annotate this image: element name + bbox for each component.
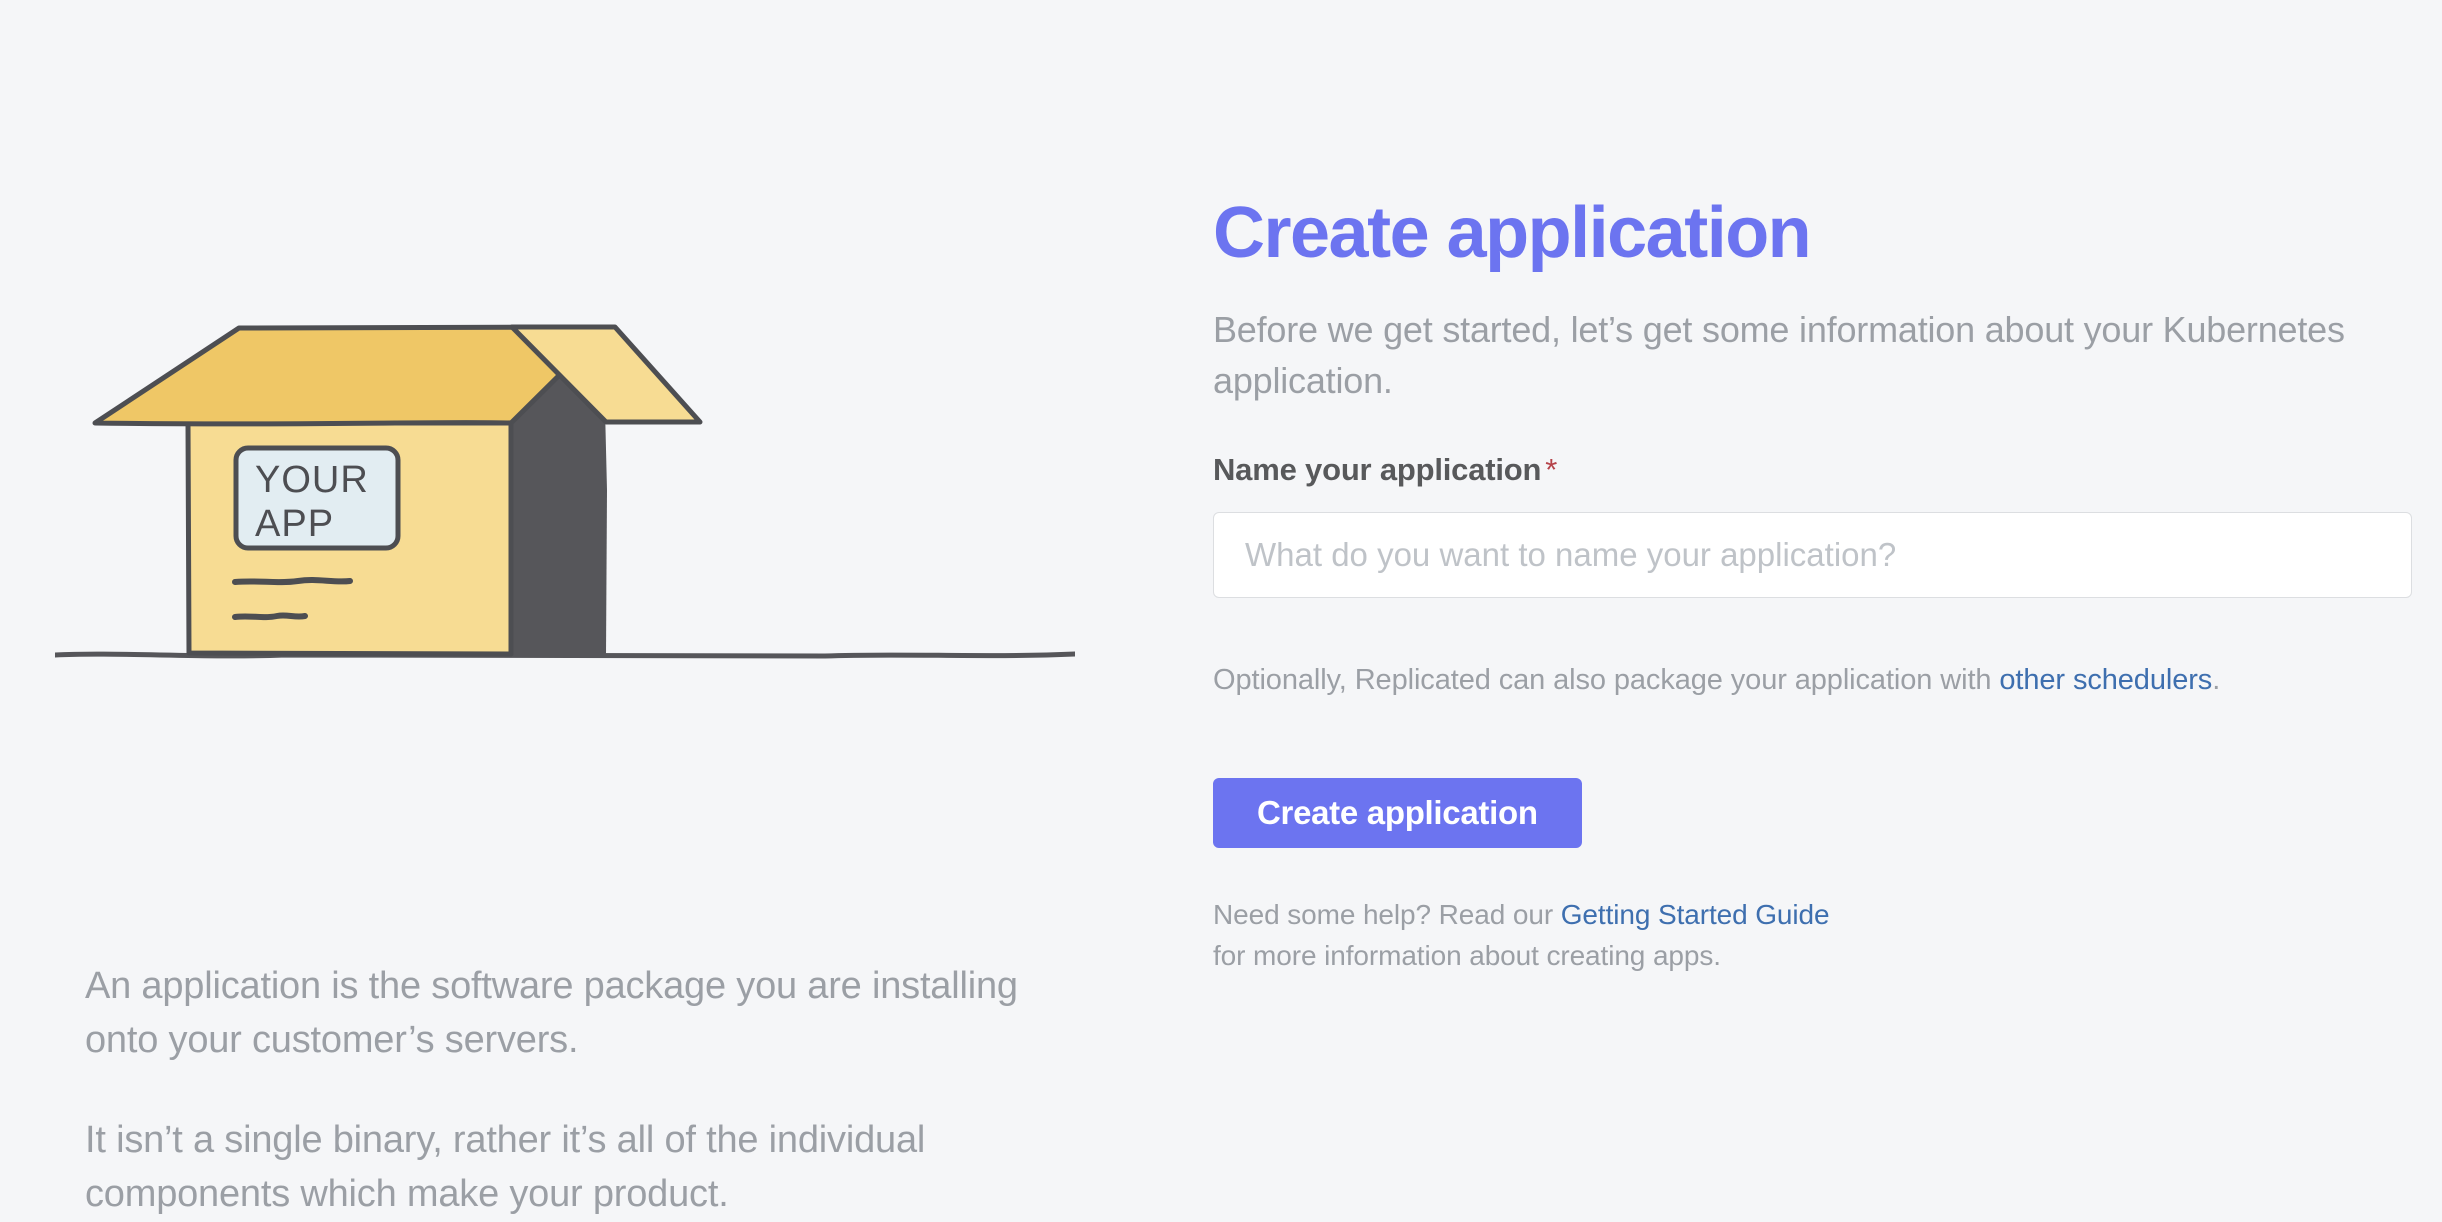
optional-note-suffix: . (2212, 664, 2220, 696)
create-application-button[interactable]: Create application (1213, 778, 1582, 848)
getting-started-guide-link[interactable]: Getting Started Guide (1561, 899, 1830, 930)
page-title: Create application (1213, 196, 2413, 272)
left-column: YOUR APP An application is the software … (55, 190, 1075, 735)
box-dash-line-short (235, 615, 305, 617)
application-name-input[interactable] (1213, 512, 2412, 598)
page-subtitle: Before we get started, let’s get some in… (1213, 304, 2348, 406)
box-illustration-group: YOUR APP (55, 327, 1075, 656)
left-paragraph-1: An application is the software package y… (85, 960, 1025, 1068)
left-description: An application is the software package y… (85, 960, 1025, 1222)
your-app-label-line-2: APP (255, 503, 334, 545)
help-note-line-2: for more information about creating apps… (1213, 936, 2113, 977)
name-field-label: Name your application* (1213, 452, 2413, 488)
your-app-box-illustration: YOUR APP (55, 190, 1075, 735)
optional-note-prefix: Optionally, Replicated can also package … (1213, 664, 1999, 696)
help-note-prefix: Need some help? Read our (1213, 899, 1561, 930)
help-note-line-1: Need some help? Read our Getting Started… (1213, 895, 2113, 936)
help-note: Need some help? Read our Getting Started… (1213, 895, 2113, 976)
name-field-label-text: Name your application (1213, 452, 1541, 487)
left-paragraph-2: It isn’t a single binary, rather it’s al… (85, 1114, 1025, 1222)
create-application-page: YOUR APP An application is the software … (0, 0, 2442, 1198)
other-schedulers-link[interactable]: other schedulers (1999, 664, 2212, 696)
box-dash-line-long (235, 580, 350, 582)
name-field-block: Name your application* (1213, 452, 2413, 598)
right-column: Create application Before we get started… (1213, 196, 2413, 1005)
your-app-label-line-1: YOUR (255, 459, 369, 501)
required-asterisk: * (1545, 452, 1557, 487)
optional-schedulers-note: Optionally, Replicated can also package … (1213, 660, 2413, 701)
